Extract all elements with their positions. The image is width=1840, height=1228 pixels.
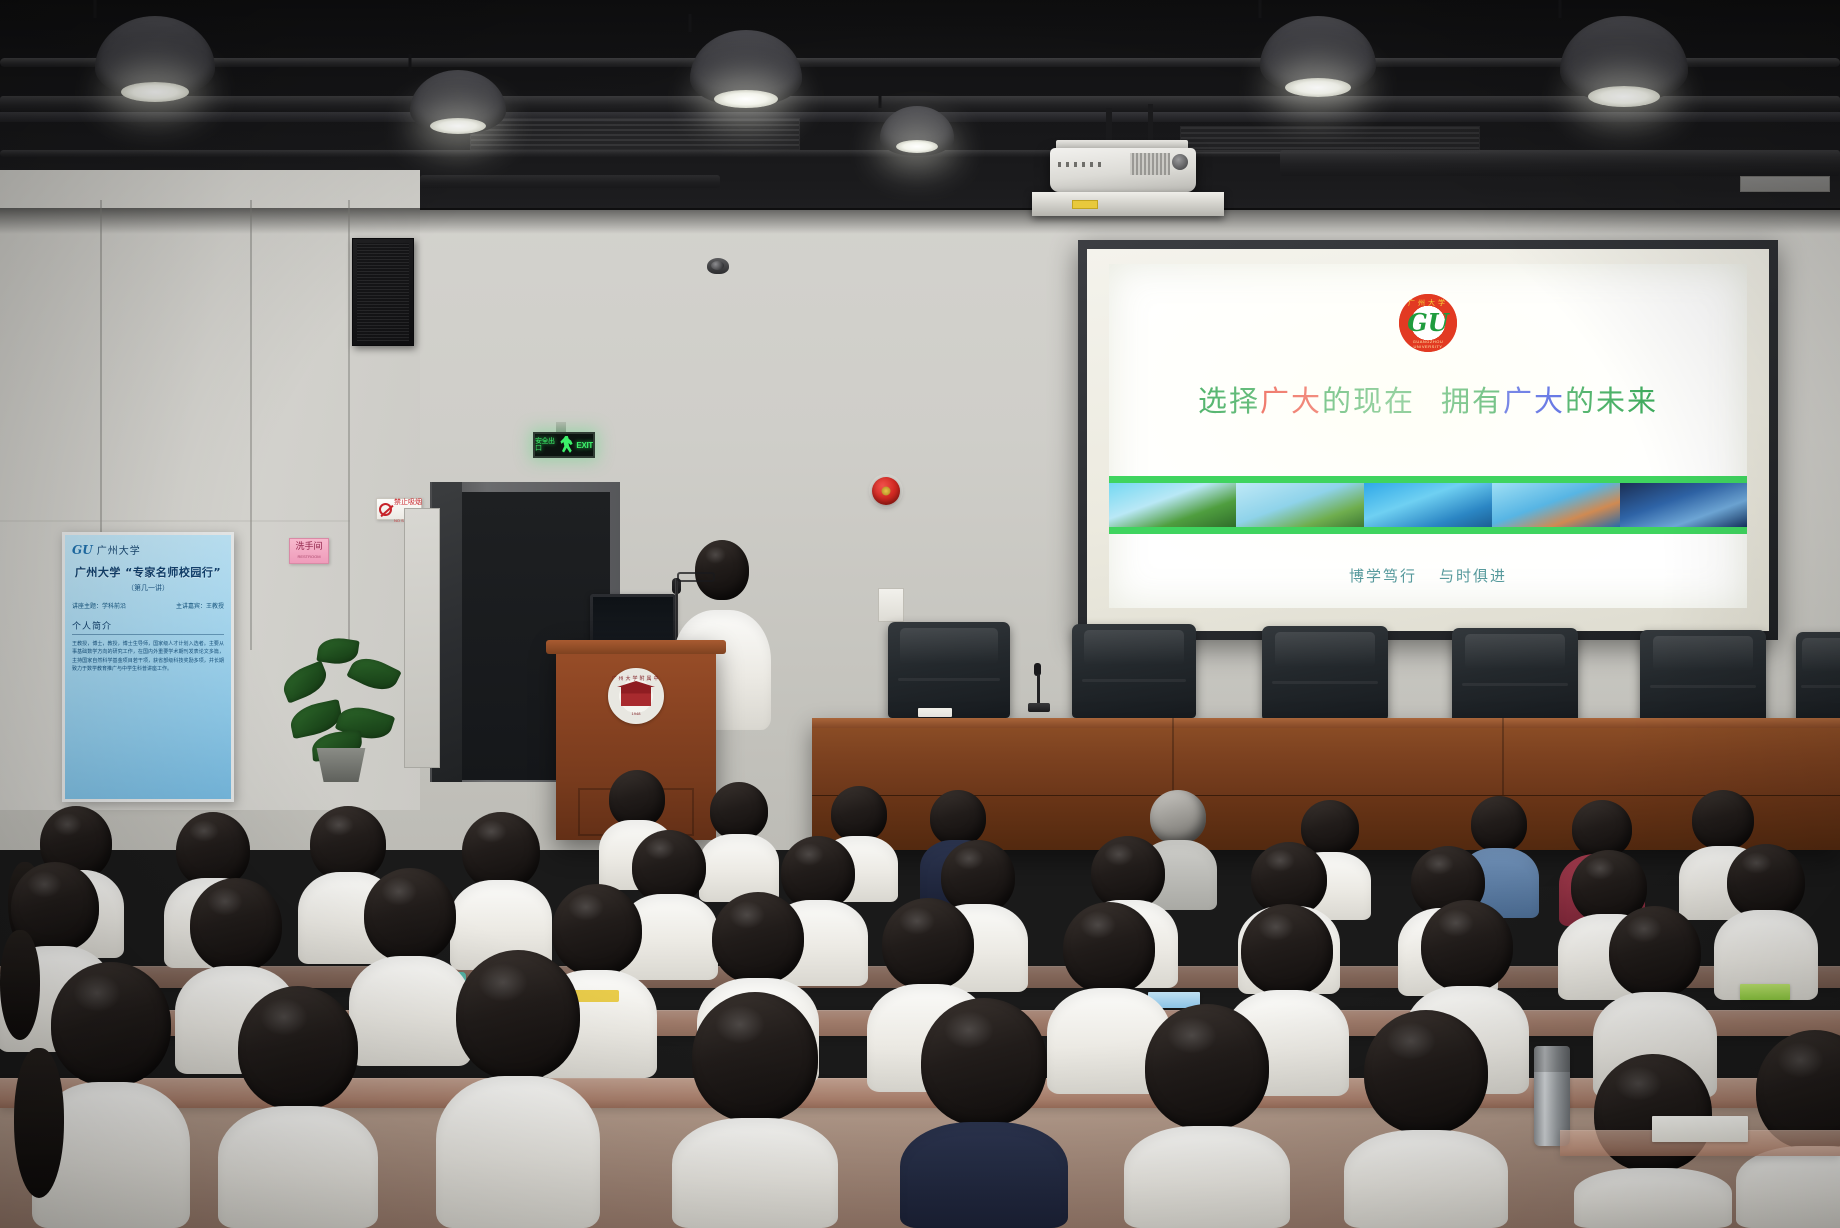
executive-chair [1072,624,1196,718]
emblem-building-icon [621,686,651,706]
ponytail [14,1048,64,1198]
slide-motto: 博学笃行与时俱进 [1109,565,1747,586]
university-logo: 广州大学 GU GUANGZHOU UNIVERSITY [1399,294,1457,352]
lecture-hall-photo: 安全出口 EXIT 禁止吸烟 NO SMOKING 洗手间 RESTROOM 广… [0,0,1840,1228]
audience-member [676,992,834,1228]
fire-alarm-icon [872,477,900,505]
presentation-slide: 广州大学 GU GUANGZHOU UNIVERSITY 选择广大的现在拥有广大… [1109,264,1747,608]
executive-chair [1796,632,1840,724]
logo-mark: GU [1407,311,1448,335]
slide-title-seg-0: 选择 [1198,384,1260,418]
restroom-sign: 洗手间 RESTROOM [289,538,329,564]
event-poster: GU 广州大学 广州大学 “专家名师校园行” （第几一讲） 讲座主题：学科前沿 … [62,532,234,802]
audience-member [440,950,596,1228]
potted-plant [276,612,406,782]
band-photo-5 [1620,483,1748,527]
exit-sign-cn: 安全出口 [535,438,558,452]
audience-member [904,998,1064,1228]
poster-subtitle: （第几一讲） [72,583,224,593]
plant-leaf [278,660,331,703]
executive-chair [888,622,1010,718]
ponytail [0,930,40,1040]
door-side-panel [404,508,440,768]
ceiling-duct-right [1280,150,1840,176]
school-emblem: 广州大学附属中学 1948 [608,668,664,724]
audience-member [1128,1004,1286,1228]
audience-member [1348,1010,1504,1228]
wall-speaker-icon [352,238,414,346]
wall-trim-right [1740,176,1830,192]
audience-member [1716,844,1816,1000]
wall-seam [348,200,350,650]
ceiling-duct-mid [420,175,720,188]
executive-chair [1452,628,1578,722]
slide-title-seg-1: 广大 [1260,384,1322,418]
poster-section-heading: 个人简介 [72,619,224,635]
presenter-head [695,540,749,600]
slide-motto-right: 与时俱进 [1439,567,1507,585]
poster-topic: 讲座主题：学科前沿 [72,601,126,610]
wall-top-shadow [0,208,1840,234]
wall-panel-line [0,520,350,522]
projector-icon [1050,148,1196,192]
audience-member [222,986,374,1228]
wall-seam [250,200,252,650]
projection-screen-surface: 广州大学 GU GUANGZHOU UNIVERSITY 选择广大的现在拥有广大… [1087,249,1769,631]
executive-chair [1640,630,1766,724]
executive-chair [1262,626,1388,720]
presenter-glasses-icon [677,572,715,582]
restroom-sign-en: RESTROOM [297,554,320,559]
wall-switch-box [878,588,904,622]
band-photo-2 [1236,483,1364,527]
slide-title-seg-4: 广大 [1503,384,1565,418]
papers-on-table [918,708,952,717]
logo-ring-bottom-text: GUANGZHOU UNIVERSITY [1399,339,1457,349]
poster-body-text: 王教授，博士，教授，博士生导师，国家级人才计划入选者。主要从事基础数学方向的研究… [72,640,224,673]
logo-ring-top-text: 广州大学 [1399,298,1457,308]
plant-pot [312,748,370,782]
emblem-year: 1948 [610,711,662,716]
slide-title-seg-5: 的未来 [1565,384,1658,418]
poster-speaker: 主讲嘉宾：王教授 [176,601,224,610]
poster-title: 广州大学 “专家名师校园行” [72,564,224,580]
notebook [1652,1116,1748,1142]
gooseneck-microphone [1028,660,1052,712]
band-photo-3 [1364,483,1492,527]
audience-member [1740,1030,1840,1228]
no-smoking-icon [379,503,392,516]
slide-photo-band [1109,476,1747,534]
running-man-icon [560,436,575,454]
asset-tag-icon [1072,200,1098,209]
projector-shelf [1032,192,1224,216]
slide-title-seg-3: 拥有 [1441,384,1503,418]
slide-title: 选择广大的现在拥有广大的未来 [1198,378,1658,420]
band-photo-4 [1492,483,1620,527]
band-photo-1 [1109,483,1237,527]
poster-meta-row: 讲座主题：学科前沿 主讲嘉宾：王教授 [72,601,224,610]
notebook [1740,984,1790,1000]
poster-brand: GU 广州大学 [72,542,224,557]
security-camera-icon [707,258,729,274]
restroom-sign-cn: 洗手间 [295,543,322,552]
projector-arm [1148,104,1153,144]
ceiling-vent [470,118,800,150]
exit-sign-en: EXIT [576,441,593,450]
slide-motto-left: 博学笃行 [1349,567,1417,585]
exit-sign: 安全出口 EXIT [533,432,595,458]
poster-brand-name: 广州大学 [97,542,141,557]
poster-brand-mark: GU [72,544,93,556]
projection-screen-frame: 广州大学 GU GUANGZHOU UNIVERSITY 选择广大的现在拥有广大… [1078,240,1778,640]
projector-arm [1106,108,1112,144]
slide-title-seg-2: 的现在 [1322,384,1415,418]
no-smoking-cn: 禁止吸烟 [394,498,422,506]
